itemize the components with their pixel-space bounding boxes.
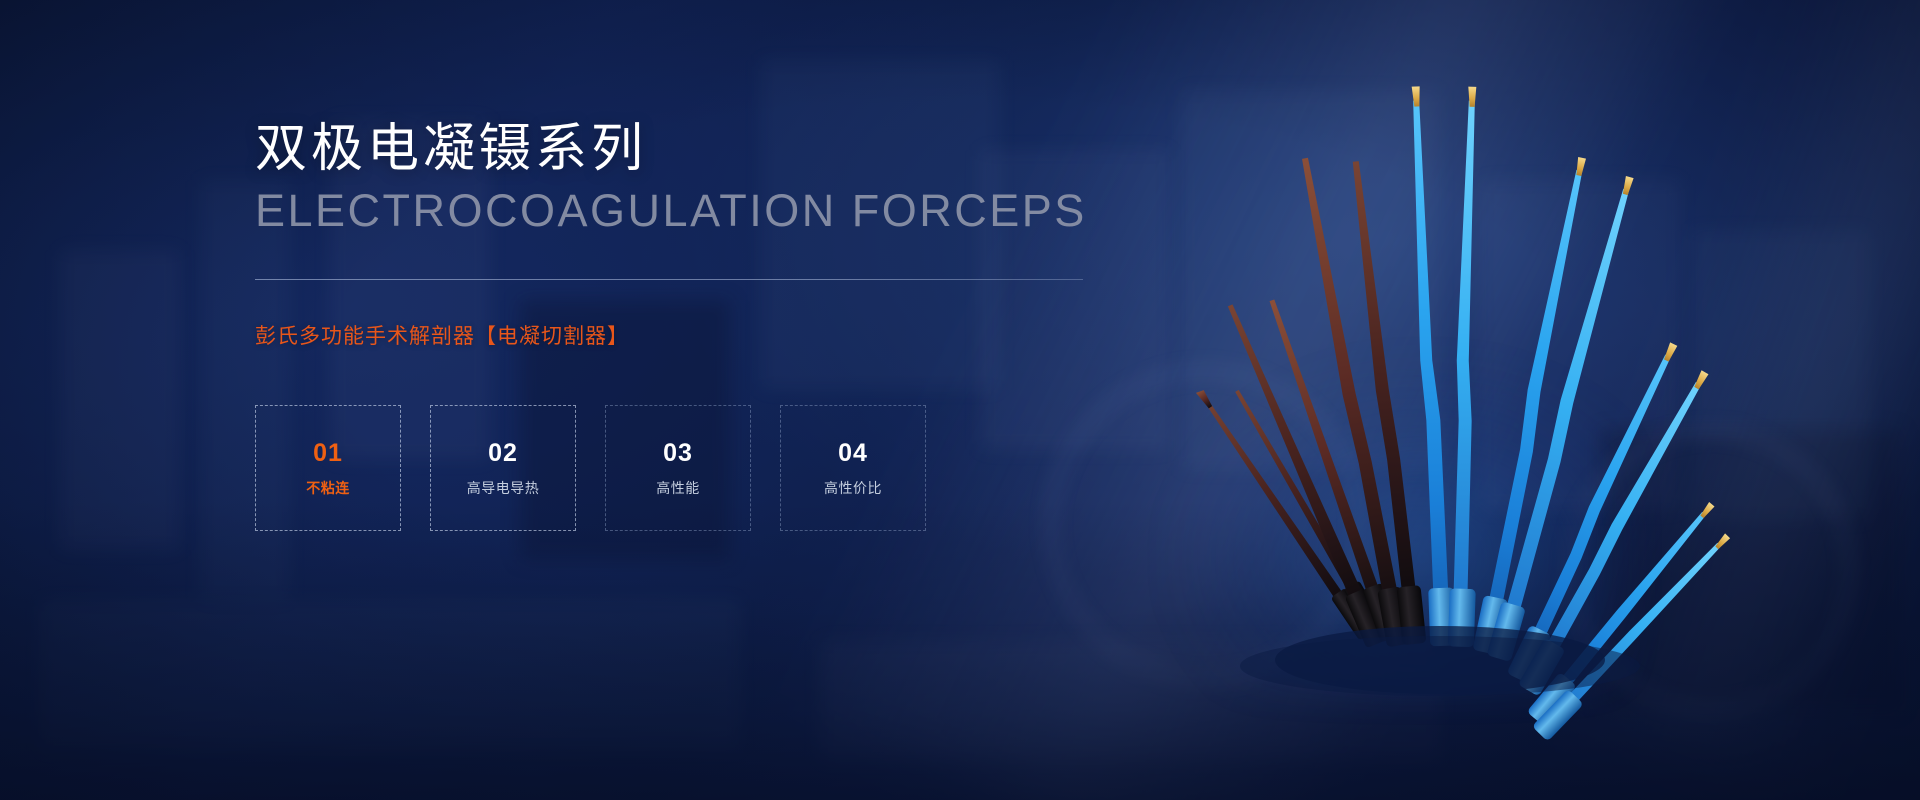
bg-panel bbox=[60, 250, 180, 550]
feature-card-04[interactable]: 04 高性价比 bbox=[780, 405, 926, 531]
page-title: 双极电凝镊系列 bbox=[255, 120, 1155, 178]
feature-list: 01 不粘连 02 高导电导热 03 高性能 04 高性价比 bbox=[255, 405, 1155, 531]
forceps-dark-group bbox=[1193, 155, 1426, 649]
product-banner: 双极电凝镊系列 ELECTROCOAGULATION FORCEPS 彭氏多功能… bbox=[0, 0, 1920, 800]
product-tagline: 彭氏多功能手术解剖器【电凝切割器】 bbox=[255, 320, 1155, 350]
page-subtitle-english: ELECTROCOAGULATION FORCEPS bbox=[255, 186, 1155, 236]
feature-card-02[interactable]: 02 高导电导热 bbox=[430, 405, 576, 531]
forceps-artwork bbox=[1110, 60, 1670, 680]
divider bbox=[255, 279, 1083, 280]
feature-number: 01 bbox=[313, 441, 343, 466]
feature-label: 高性能 bbox=[656, 481, 700, 495]
feature-label: 高导电导热 bbox=[467, 481, 540, 495]
feature-card-01[interactable]: 01 不粘连 bbox=[255, 405, 401, 531]
bg-panel bbox=[1690, 230, 1870, 520]
feature-label: 高性价比 bbox=[824, 481, 882, 495]
banner-content: 双极电凝镊系列 ELECTROCOAGULATION FORCEPS 彭氏多功能… bbox=[255, 120, 1155, 531]
feature-number: 02 bbox=[488, 441, 518, 466]
feature-card-03[interactable]: 03 高性能 bbox=[605, 405, 751, 531]
feature-number: 03 bbox=[663, 441, 693, 466]
feature-label: 不粘连 bbox=[306, 481, 350, 495]
bg-panel bbox=[40, 600, 740, 750]
feature-number: 04 bbox=[838, 441, 868, 466]
